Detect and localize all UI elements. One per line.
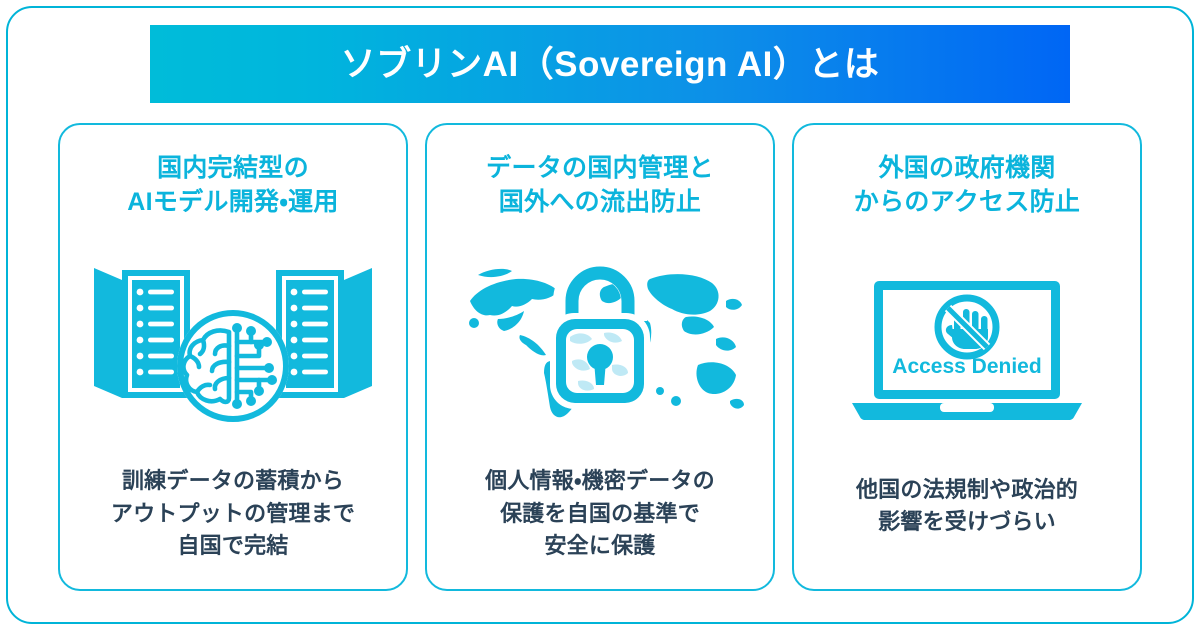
card-caption: 他国の法規制や政治的 影響を受けづらい <box>856 474 1078 589</box>
card-title: 国内完結型の AIモデル開発・運用 <box>127 151 339 219</box>
infographic-page: ソブリンAI（Sovereign AI）とは 国内完結型の AIモデル開発・運用 <box>0 0 1200 630</box>
card-domestic-data-control: データの国内管理と 国外への流出防止 <box>425 123 775 591</box>
server-racks-ai-brain-icon <box>60 219 406 465</box>
card-domestic-ai-development: 国内完結型の AIモデル開発・運用 <box>58 123 408 591</box>
padlock-shape <box>550 267 650 409</box>
header-banner: ソブリンAI（Sovereign AI）とは <box>150 25 1070 103</box>
cards-row: 国内完結型の AIモデル開発・運用 <box>58 123 1142 591</box>
screen-label: Access Denied <box>892 355 1041 378</box>
world-map-padlock-icon <box>427 219 773 465</box>
card-title: データの国内管理と 国外への流出防止 <box>486 151 714 219</box>
card-title: 外国の政府機関 からのアクセス防止 <box>854 151 1080 219</box>
card-caption: 個人情報・機密データの 保護を自国の基準で 安全に保護 <box>485 465 715 589</box>
card-caption: 訓練データの蓄積から アウトプットの管理まで 自国で完結 <box>111 465 355 589</box>
card-foreign-access-prevention: 外国の政府機関 からのアクセス防止 <box>792 123 1142 591</box>
page-title: ソブリンAI（Sovereign AI）とは <box>341 47 880 82</box>
laptop-access-denied-icon: Access Denied <box>794 219 1140 474</box>
